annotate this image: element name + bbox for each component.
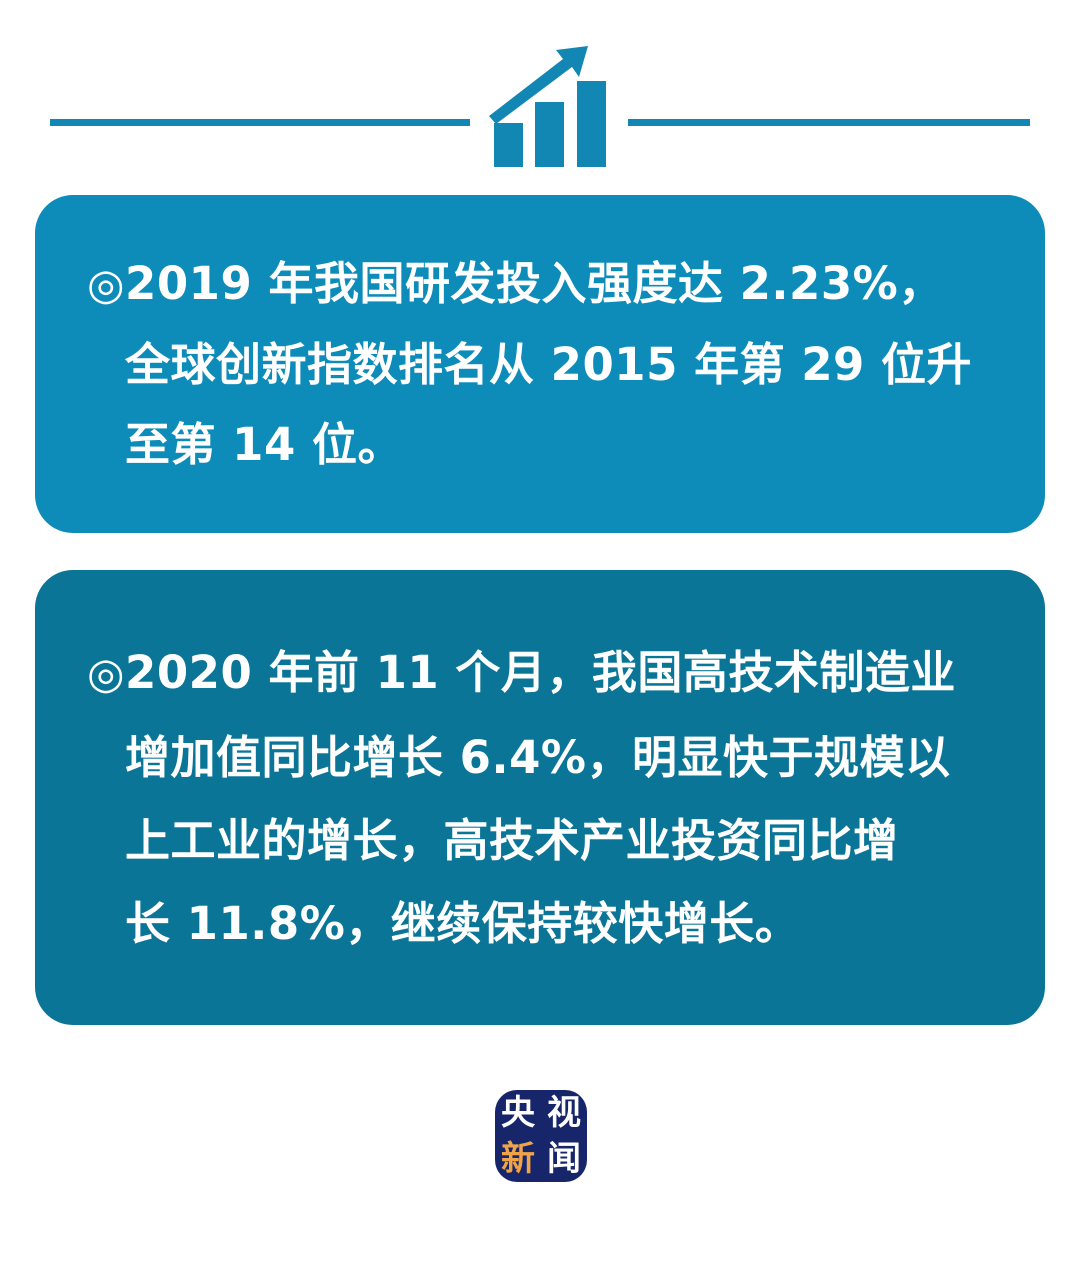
card-2019-text: ◎2019 年我国研发投入强度达 2.23%， 全球创新指数排名从 2015 年… xyxy=(87,244,993,485)
divider-line-left xyxy=(50,119,470,126)
card-2020-line-4: 长 11.8%，继续保持较快增长。 xyxy=(87,882,993,965)
card-2019-line-1-text: 2019 年我国研发投入强度达 2.23%， xyxy=(125,257,944,310)
card-2019-line-2: 全球创新指数排名从 2015 年第 29 位升 xyxy=(87,325,993,405)
logo-char-xin: 新 xyxy=(501,1142,535,1176)
divider-line-right xyxy=(628,119,1030,126)
statistic-card-2020: ◎2020 年前 11 个月，我国高技术制造业 增加值同比增长 6.4%，明显快… xyxy=(35,570,1045,1025)
card-2020-line-3: 上工业的增长，高技术产业投资同比增 xyxy=(87,799,993,882)
logo-char-yang: 央 xyxy=(501,1096,535,1130)
card-2020-line-2: 增加值同比增长 6.4%，明显快于规模以 xyxy=(87,716,993,799)
card-2020-line-1: ◎2020 年前 11 个月，我国高技术制造业 xyxy=(87,631,993,716)
logo-char-shi: 视 xyxy=(547,1096,581,1130)
growth-bar-chart-arrow-icon xyxy=(484,44,616,170)
card-2019-line-1: ◎2019 年我国研发投入强度达 2.23%， xyxy=(87,244,993,325)
cctv-news-logo: 央 视 新 闻 xyxy=(495,1090,587,1182)
statistic-card-2019: ◎2019 年我国研发投入强度达 2.23%， 全球创新指数排名从 2015 年… xyxy=(35,195,1045,533)
logo-char-wen: 闻 xyxy=(547,1142,581,1176)
bullet-circled-dot-icon: ◎ xyxy=(87,649,125,699)
header-ornament xyxy=(0,0,1080,190)
bullet-circled-dot-icon: ◎ xyxy=(87,260,125,310)
card-2019-line-3: 至第 14 位。 xyxy=(87,405,993,485)
card-2020-line-1-text: 2020 年前 11 个月，我国高技术制造业 xyxy=(125,646,956,699)
card-2020-text: ◎2020 年前 11 个月，我国高技术制造业 增加值同比增长 6.4%，明显快… xyxy=(87,631,993,965)
